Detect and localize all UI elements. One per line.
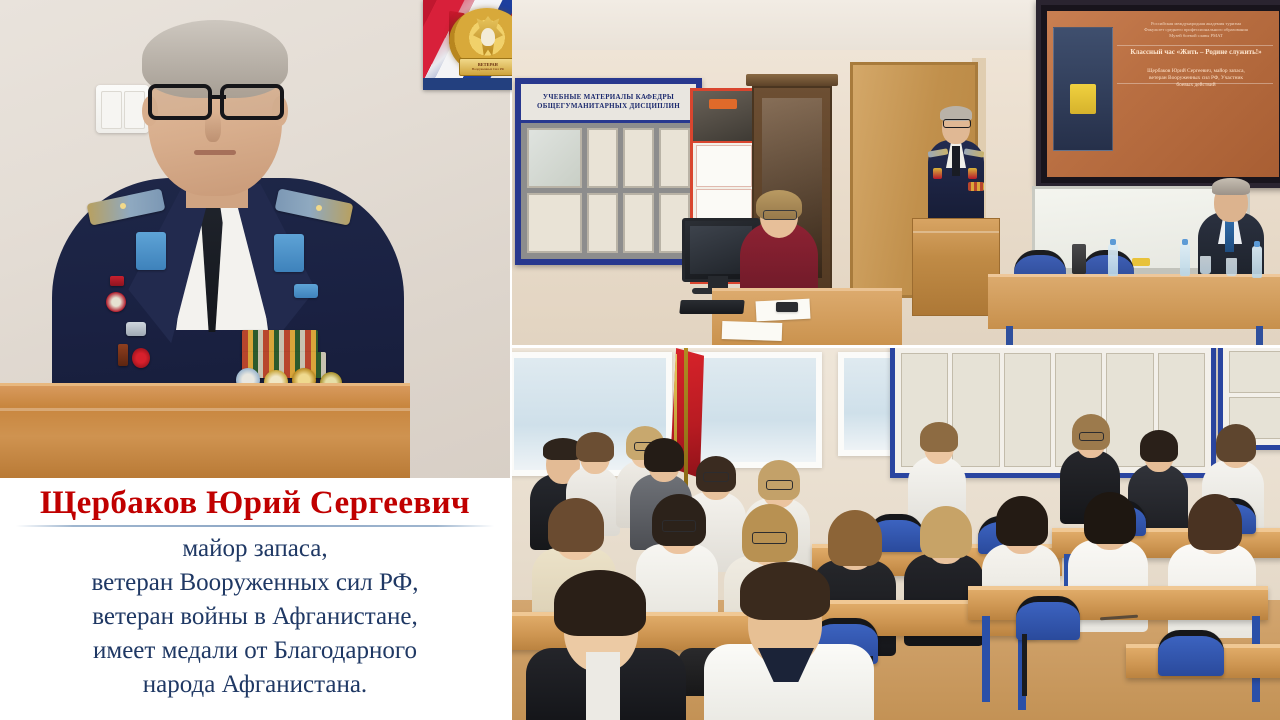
presenter-ribbon-bar — [968, 182, 984, 191]
caption-line: народа Афганистана. — [0, 668, 510, 702]
slide-header-line3: Музей боевой славы РМАТ — [1117, 33, 1275, 39]
board-cell — [1229, 351, 1280, 393]
slide-subtitle-line2: ветеран Вооруженных сил РФ, Участник — [1117, 75, 1275, 82]
student-hair — [828, 510, 882, 566]
classroom-students-photo — [512, 348, 1280, 720]
whiteboard-marker — [1132, 258, 1150, 266]
eyeglasses-icon — [146, 84, 286, 114]
student-hair — [644, 438, 684, 472]
presenter-eyeglasses-icon — [943, 119, 971, 128]
paper-sheet — [722, 321, 783, 341]
epaulette-star-right — [316, 205, 322, 211]
presenter-medal-left — [933, 168, 942, 179]
slide-subtitle-line1: Щербаков Юрий Сергеевич, майор запаса, — [1117, 68, 1275, 75]
slide-divider-mid — [1117, 83, 1273, 84]
presenter-medal-right — [968, 168, 977, 179]
pilot-wings-badge — [126, 322, 146, 336]
aviation-badge-left — [136, 232, 166, 270]
student-hair — [554, 570, 646, 636]
lecture-hall-photo: УЧЕБНЫЕ МАТЕРИАЛЫ КАФЕДРЫ ОБЩЕГУМАНИТАРН… — [512, 0, 1280, 345]
calendar-month-block — [696, 145, 752, 187]
student-hair — [920, 422, 958, 452]
board-doc — [527, 193, 582, 253]
lecture-podium — [912, 218, 1000, 316]
emblem-banner: ВЕТЕРАН Вооруженных Сил РФ — [459, 58, 517, 76]
caption-line: ветеран Вооруженных сил РФ, — [0, 566, 510, 600]
drinking-glass — [1226, 258, 1237, 276]
caption-line-list: майор запаса, ветеран Вооруженных сил РФ… — [0, 532, 510, 702]
slide-canvas: ВЕТЕРАН Вооруженных Сил РФ УЧЕБНЫЕ МАТЕР… — [0, 0, 1280, 720]
student-eyeglasses-icon — [662, 520, 696, 532]
board-doc — [587, 128, 618, 188]
title-divider — [16, 525, 494, 527]
student-hair — [576, 432, 614, 462]
mouth — [194, 150, 236, 155]
small-badge — [118, 344, 128, 366]
board-doc — [623, 193, 654, 253]
medal-star-order — [106, 292, 126, 312]
student-eyeglasses-icon — [1079, 432, 1104, 441]
board-doc — [527, 128, 582, 188]
seated-teacher-eyeglasses-icon — [763, 210, 797, 220]
projected-slide: Российская международная академия туризм… — [1047, 11, 1279, 177]
student-hair — [1188, 494, 1242, 550]
water-bottle — [1180, 244, 1190, 276]
board-cell — [1004, 353, 1051, 467]
smartphone — [776, 302, 798, 312]
water-bottle — [1108, 244, 1118, 276]
order-ribbon-block — [110, 276, 124, 286]
slide-text-block: Российская международная академия туризм… — [1117, 21, 1275, 89]
order-suspension-left — [294, 284, 318, 298]
desk-leg — [982, 616, 990, 702]
blue-chair — [1158, 630, 1224, 676]
student-eyeglasses-icon — [766, 480, 793, 490]
student-hair — [548, 498, 604, 552]
travel-mug — [1072, 244, 1086, 274]
student-hair — [996, 496, 1048, 546]
student-eyeglasses-icon — [703, 472, 729, 482]
student-shirt — [586, 652, 620, 720]
slide-veteran-photo — [1053, 27, 1113, 151]
caption-line: ветеран войны в Афганистане, — [0, 600, 510, 634]
board-header: УЧЕБНЫЕ МАТЕРИАЛЫ КАФЕДРЫ ОБЩЕГУМАНИТАРН… — [521, 84, 696, 123]
eagle-shield-icon — [481, 28, 495, 46]
banner-pole — [684, 348, 688, 490]
cabinet-top-clutter — [746, 74, 838, 86]
chair-leg — [1022, 634, 1027, 696]
student-hair — [920, 506, 972, 558]
board-document-grid — [527, 128, 690, 253]
front-table — [988, 274, 1280, 329]
calendar-header-image — [693, 91, 753, 143]
board-title-line1: УЧЕБНЫЕ МАТЕРИАЛЫ КАФЕДРЫ — [543, 93, 674, 102]
table-leg — [1006, 326, 1013, 345]
slide-divider-top — [1117, 45, 1273, 46]
student-hair — [1084, 492, 1136, 544]
board-doc — [623, 128, 654, 188]
board-doc — [587, 193, 618, 253]
seated-guest-tie — [1225, 220, 1234, 252]
projection-screen: Российская международная академия туризм… — [1036, 0, 1280, 188]
student-eyeglasses-icon — [752, 532, 787, 544]
slide-title: Классный час «Жить – Родине служить!» — [1117, 48, 1275, 57]
board-doc — [659, 128, 690, 188]
board-title-line2: ОБЩЕГУМАНИТАРНЫХ ДИСЦИПЛИН — [537, 102, 680, 111]
student-hair — [1140, 430, 1178, 462]
table-leg — [1256, 326, 1263, 345]
drinking-glass — [1200, 256, 1211, 274]
student-hair — [740, 562, 830, 620]
aviation-badge-right — [274, 234, 304, 272]
caption-block: Щербаков Юрий Сергеевич майор запаса, ве… — [0, 478, 510, 720]
wooden-podium — [0, 383, 410, 478]
water-bottle — [1252, 246, 1262, 278]
presenter-tie — [952, 146, 960, 176]
department-materials-board: УЧЕБНЫЕ МАТЕРИАЛЫ КАФЕДРЫ ОБЩЕГУМАНИТАРН… — [515, 78, 702, 265]
caption-line: майор запаса, — [0, 532, 510, 566]
epaulette-star-left — [120, 203, 126, 209]
student-hair — [1216, 424, 1256, 462]
page-title: Щербаков Юрий Сергеевич — [0, 484, 510, 522]
board-cell — [952, 353, 999, 467]
seated-guest-hair — [1212, 178, 1250, 195]
keyboard — [679, 300, 744, 314]
caption-line: имеет медали от Благодарного — [0, 634, 510, 668]
guards-badge — [132, 348, 150, 368]
student-desk — [968, 586, 1268, 620]
emblem-banner-line2: Вооруженных Сил РФ — [472, 67, 504, 71]
